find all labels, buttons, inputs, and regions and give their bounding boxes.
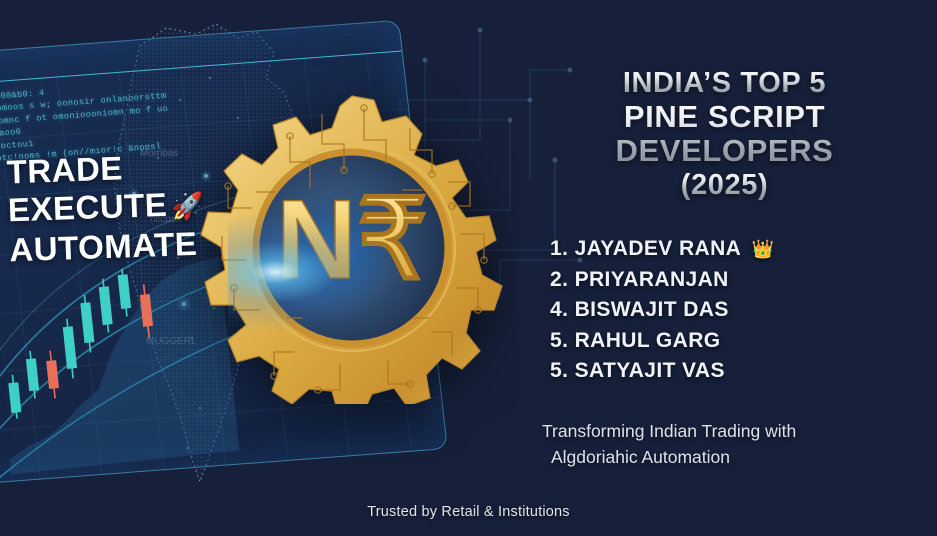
- rocket-icon: 🚀: [171, 191, 205, 222]
- title-line-1: INDIA’S TOP 5: [512, 66, 937, 100]
- tagline-block: Transforming Indian Trading with Algdori…: [542, 418, 932, 470]
- tagline-line-2: Algdoriahic Automation: [542, 444, 932, 470]
- list-item-rank: 1.: [550, 237, 568, 260]
- title-line-3: (2025): [512, 168, 937, 202]
- list-item-name: JAYADEV RANA: [575, 237, 741, 260]
- list-item-rank: 5.: [550, 329, 568, 352]
- list-item-name: BISWAJIT DAS: [575, 298, 729, 321]
- crown-icon: 👑: [752, 239, 775, 259]
- list-item-rank: 4.: [550, 298, 568, 321]
- list-item-name: SATYAJIT VAS: [575, 359, 725, 382]
- list-item-name: PRIYARANJAN: [575, 268, 729, 291]
- title-line-2: PINE SCRIPT DEVELOPERS: [512, 100, 937, 168]
- developer-ranking-list: 1. JAYADEV RANA 👑 2. PRIYARANJAN 4. BISW…: [550, 234, 930, 387]
- headline-block: TRADE EXECUTE🚀 AUTOMATE: [6, 147, 206, 270]
- headline-line-2: EXECUTE🚀: [7, 185, 205, 232]
- list-item: 5. RAHUL GARG: [550, 326, 930, 357]
- left-visual-scene: Mombas hitcusk MUGGERL 8( !f!b0: [0, 0, 520, 536]
- poster-canvas: Mombas hitcusk MUGGERL 8( !f!b0: [0, 0, 937, 536]
- list-item: 1. JAYADEV RANA 👑: [550, 234, 930, 265]
- tagline-line-1: Transforming Indian Trading with: [542, 418, 932, 444]
- emblem-symbol: N₹: [276, 177, 428, 302]
- gear-coin-emblem: N₹: [196, 92, 508, 404]
- list-item: 4. BISWAJIT DAS: [550, 295, 930, 326]
- headline-line-3: AUTOMATE: [9, 225, 206, 270]
- list-item-name: RAHUL GARG: [575, 329, 721, 352]
- list-item: 5. SATYAJIT VAS: [550, 356, 930, 387]
- headline-line-2-text: EXECUTE: [7, 186, 168, 229]
- list-item-rank: 5.: [550, 359, 568, 382]
- right-content-column: INDIA’S TOP 5 PINE SCRIPT DEVELOPERS (20…: [512, 0, 937, 536]
- page-title: INDIA’S TOP 5 PINE SCRIPT DEVELOPERS (20…: [512, 66, 937, 202]
- list-item-rank: 2.: [550, 268, 568, 291]
- footer-text: Trusted by Retail & Institutions: [0, 504, 937, 520]
- list-item: 2. PRIYARANJAN: [550, 265, 930, 296]
